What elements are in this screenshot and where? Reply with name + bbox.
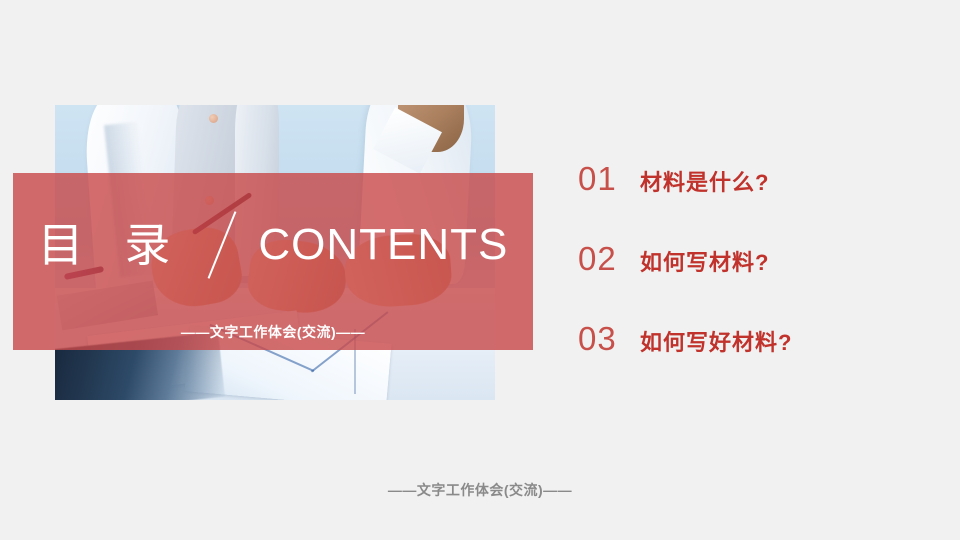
title-english: CONTENTS [254,223,508,267]
title-chinese: 目 录 [38,222,191,268]
content-item-02[interactable]: 02 如何写材料? [578,242,928,322]
content-item-01[interactable]: 01 材料是什么? [578,162,928,242]
slash-divider-icon [190,209,254,281]
content-item-number: 02 [578,242,640,275]
content-item-number: 01 [578,162,640,195]
banner-subtitle: ——文字工作体会(交流)—— [13,322,533,342]
slide-canvas: 目 录 CONTENTS ——文字工作体会(交流)—— 01 材料是什么? 02… [0,0,960,540]
content-item-label: 如何写好材料? [640,332,792,354]
content-item-label: 材料是什么? [640,172,769,194]
content-item-03[interactable]: 03 如何写好材料? [578,322,928,402]
content-item-number: 03 [578,322,640,355]
photo-button-upper [209,114,218,123]
content-item-label: 如何写材料? [640,252,769,274]
contents-list: 01 材料是什么? 02 如何写材料? 03 如何写好材料? [578,162,928,402]
cover-title-row: 目 录 CONTENTS [13,205,533,285]
slide-footer: ——文字工作体会(交流)—— [0,480,960,500]
